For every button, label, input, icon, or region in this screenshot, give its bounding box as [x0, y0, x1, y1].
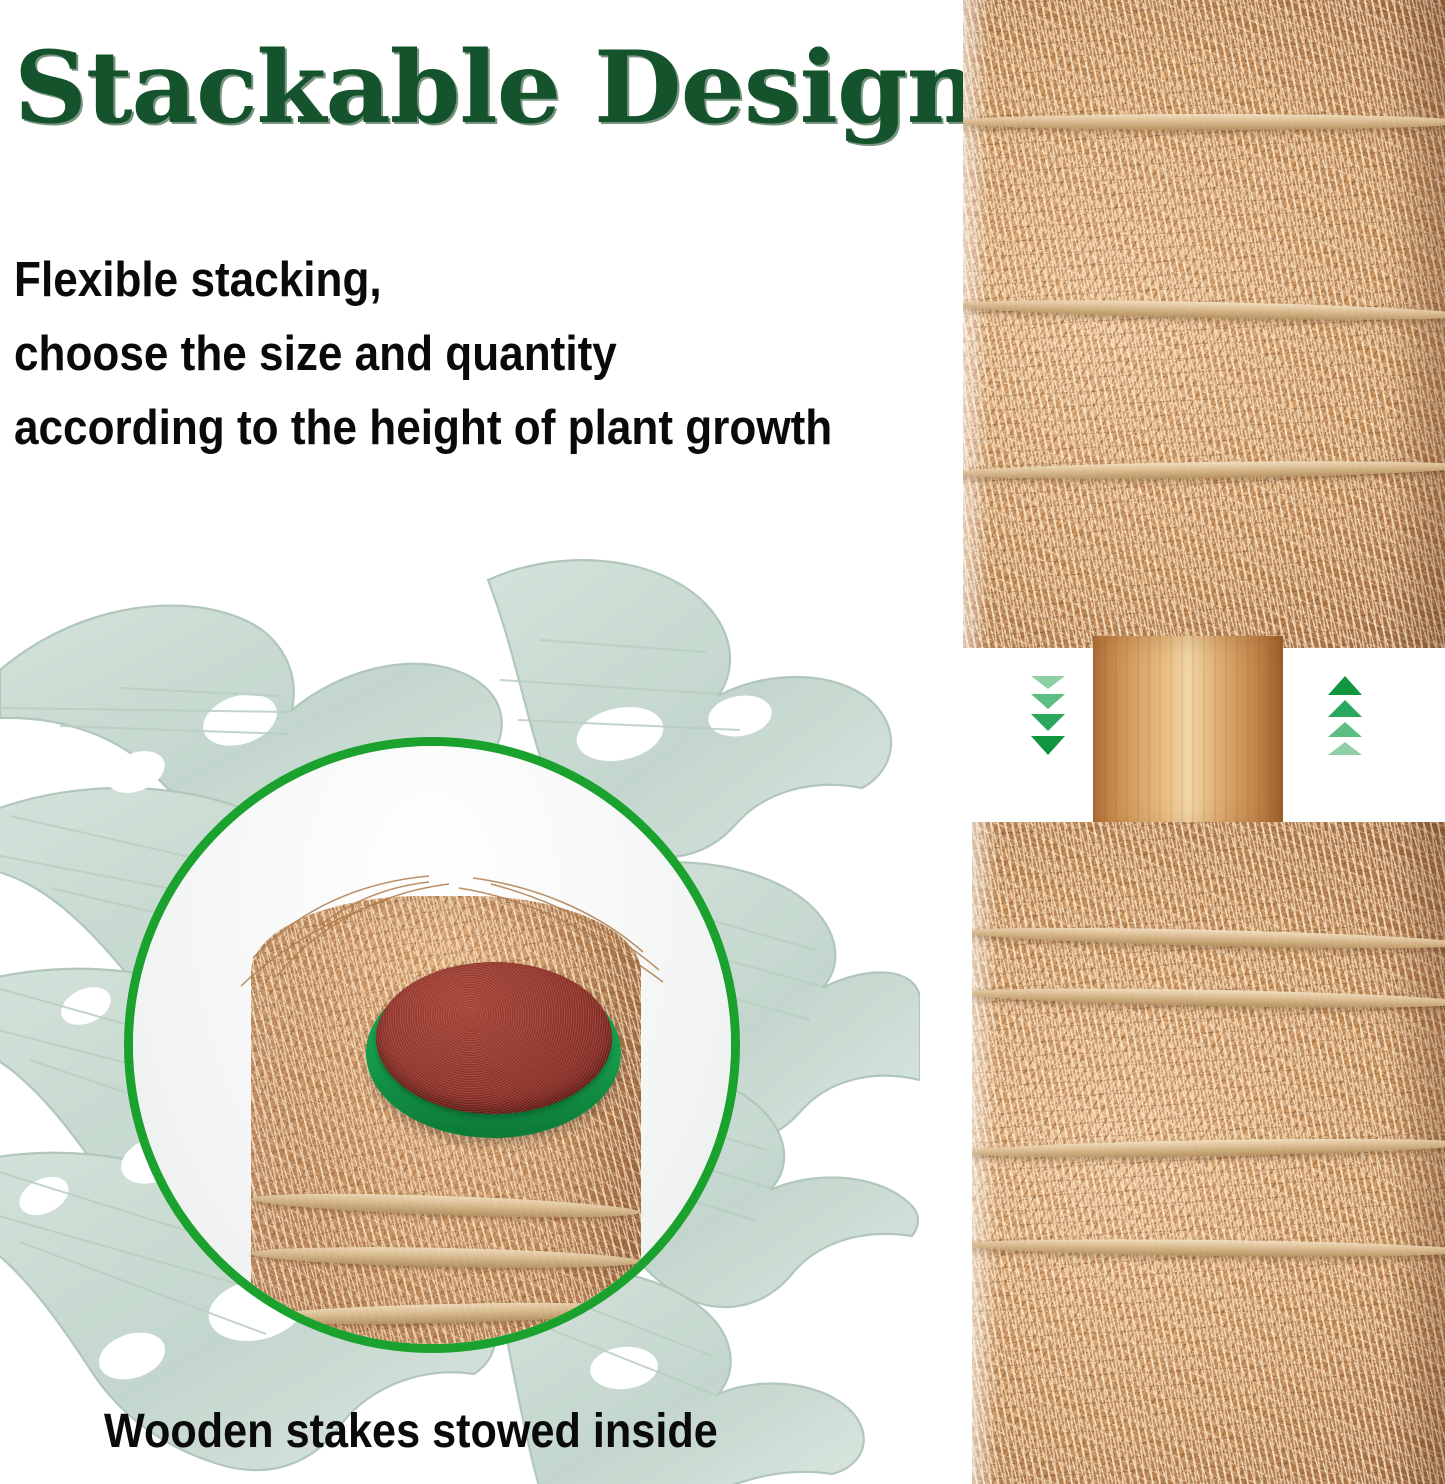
wooden-stake-connector [1093, 636, 1283, 832]
chevron-down-icon [1031, 736, 1065, 755]
chevron-down-icon [1031, 676, 1065, 689]
chevron-down-icon [1031, 694, 1065, 709]
coir-fiber-texture [963, 0, 1445, 648]
bottom-coir-pole [972, 822, 1445, 1484]
description-line-2: choose the size and quantity [14, 317, 878, 391]
product-feature-graphic: Stackable Design Flexible stacking, choo… [0, 0, 1445, 1484]
description-line-3: according to the height of plant growth [14, 391, 878, 465]
chevron-down-icon [1031, 714, 1065, 731]
chevron-up-icon [1328, 700, 1362, 717]
top-coir-pole [963, 0, 1445, 648]
downward-arrow-indicator [1028, 676, 1068, 755]
pole-shadow-edge [1389, 0, 1445, 648]
chevron-up-icon [1328, 676, 1362, 695]
pole-shadow-edge [1389, 822, 1445, 1484]
chevron-up-icon [1328, 742, 1362, 755]
pole-highlight-edge [963, 0, 989, 648]
page-title: Stackable Design [14, 38, 979, 139]
detail-circle-inset [124, 737, 740, 1353]
inset-caption: Wooden stakes stowed inside [104, 1404, 718, 1460]
feature-description: Flexible stacking, choose the size and q… [14, 243, 878, 465]
twine-wrap [963, 114, 1445, 130]
red-plastic-cap [376, 962, 612, 1114]
upward-arrow-indicator [1325, 676, 1365, 755]
description-line-1: Flexible stacking, [14, 243, 878, 317]
chevron-up-icon [1328, 722, 1362, 737]
inset-photo [133, 746, 731, 1344]
